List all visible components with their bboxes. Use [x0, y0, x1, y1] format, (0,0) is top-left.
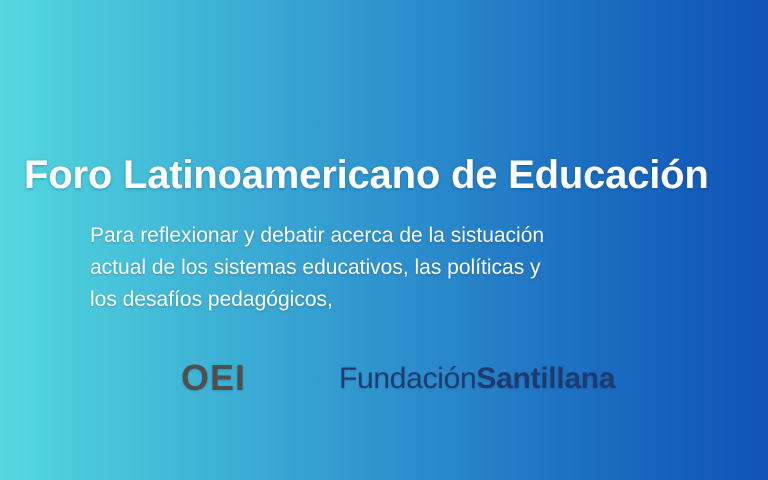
- presentation-slide: Foro Latinoamericano de Educación Para r…: [0, 0, 768, 480]
- page-title: Foro Latinoamericano de Educación: [24, 151, 754, 199]
- fundacion-santillana-logo: FundaciónSantillana: [339, 360, 615, 398]
- oei-logo: OEI: [181, 358, 246, 398]
- body-line-1: Para reflexionar y debatir acerca de la …: [90, 220, 690, 252]
- logo-row: OEI FundaciónSantillana: [0, 358, 768, 402]
- fundacion-santillana-logo-bold-word: Santillana: [476, 362, 615, 395]
- body-line-2: actual de los sistemas educativos, las p…: [90, 252, 690, 284]
- body-line-3: los desafíos pedagógicos,: [90, 284, 690, 316]
- fundacion-santillana-logo-light-word: Fundación: [339, 362, 476, 395]
- slide-body-text: Para reflexionar y debatir acerca de la …: [90, 220, 690, 316]
